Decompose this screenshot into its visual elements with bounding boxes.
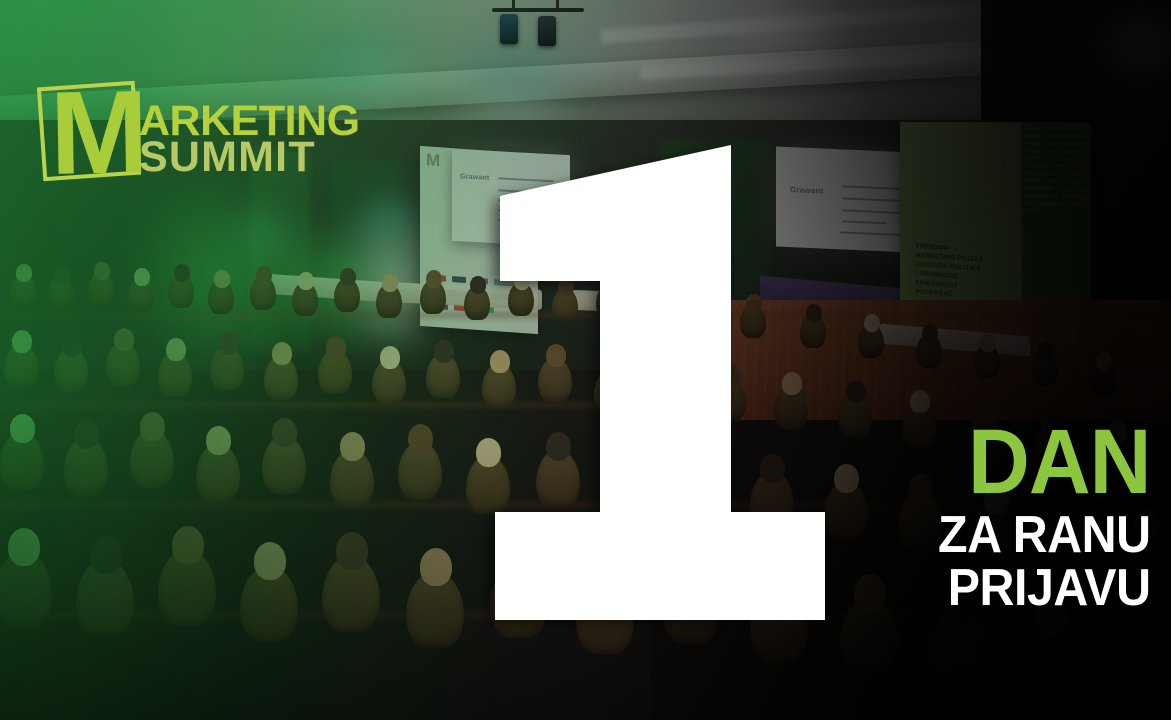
logo-word-summit: SUMMIT xyxy=(139,136,316,179)
countdown-line-prijavu: PRIJAVU xyxy=(938,562,1151,615)
countdown-line-dan: DAN xyxy=(938,420,1151,505)
countdown-line-za-ranu: ZA RANU xyxy=(938,509,1151,562)
poster-canvas: M Grawant Grawant xyxy=(0,0,1171,720)
marketing-summit-logo: M ARKETING SUMMIT xyxy=(36,78,356,190)
countdown-block: DAN ZA RANU PRIJAVU xyxy=(922,420,1151,615)
logo-m-mark: M xyxy=(49,73,145,193)
